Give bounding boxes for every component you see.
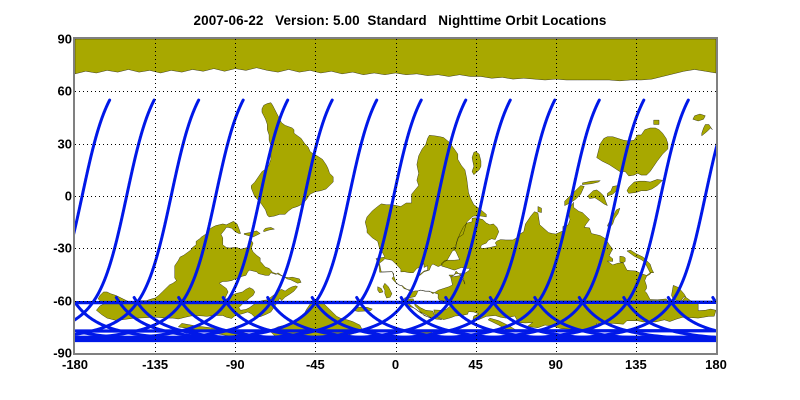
world-map xyxy=(75,39,716,353)
x-tick-label: -180 xyxy=(40,357,110,372)
x-tick-label: 180 xyxy=(681,357,751,372)
landmass-cuba-caribbean xyxy=(244,227,274,237)
landmass-antarctica xyxy=(75,39,716,81)
chart-root: 2007-06-22 Version: 5.00 Standard Nightt… xyxy=(0,0,800,400)
y-tick-label: 30 xyxy=(12,136,72,151)
landmass-borneo xyxy=(588,190,608,206)
landmass-uk-ireland xyxy=(378,283,392,298)
landmass-africa-madagascar xyxy=(472,152,481,175)
landmass-australia xyxy=(597,128,668,176)
x-tick-label: 135 xyxy=(601,357,671,372)
y-tick-label: 60 xyxy=(12,84,72,99)
x-tick-label: -90 xyxy=(200,357,270,372)
landmass-tasmania xyxy=(654,120,659,124)
y-tick-label: -30 xyxy=(12,241,72,256)
landmass-japan xyxy=(627,250,654,273)
landmass-new-guinea xyxy=(627,179,663,193)
y-tick-label: 90 xyxy=(12,32,72,47)
plot-area xyxy=(73,37,718,355)
plot-inner xyxy=(75,39,716,353)
landmass-south-america xyxy=(251,103,333,217)
x-tick-label: 0 xyxy=(361,357,431,372)
x-tick-label: 90 xyxy=(521,357,591,372)
y-tick-label: -60 xyxy=(12,293,72,308)
landmass-new-zealand xyxy=(693,114,713,136)
landmass-sri-lanka xyxy=(538,206,542,212)
page-title: 2007-06-22 Version: 5.00 Standard Nightt… xyxy=(0,13,800,28)
x-tick-label: -45 xyxy=(280,357,350,372)
x-tick-label: 45 xyxy=(441,357,511,372)
y-tick-label: 0 xyxy=(12,189,72,204)
x-tick-label: -135 xyxy=(120,357,190,372)
